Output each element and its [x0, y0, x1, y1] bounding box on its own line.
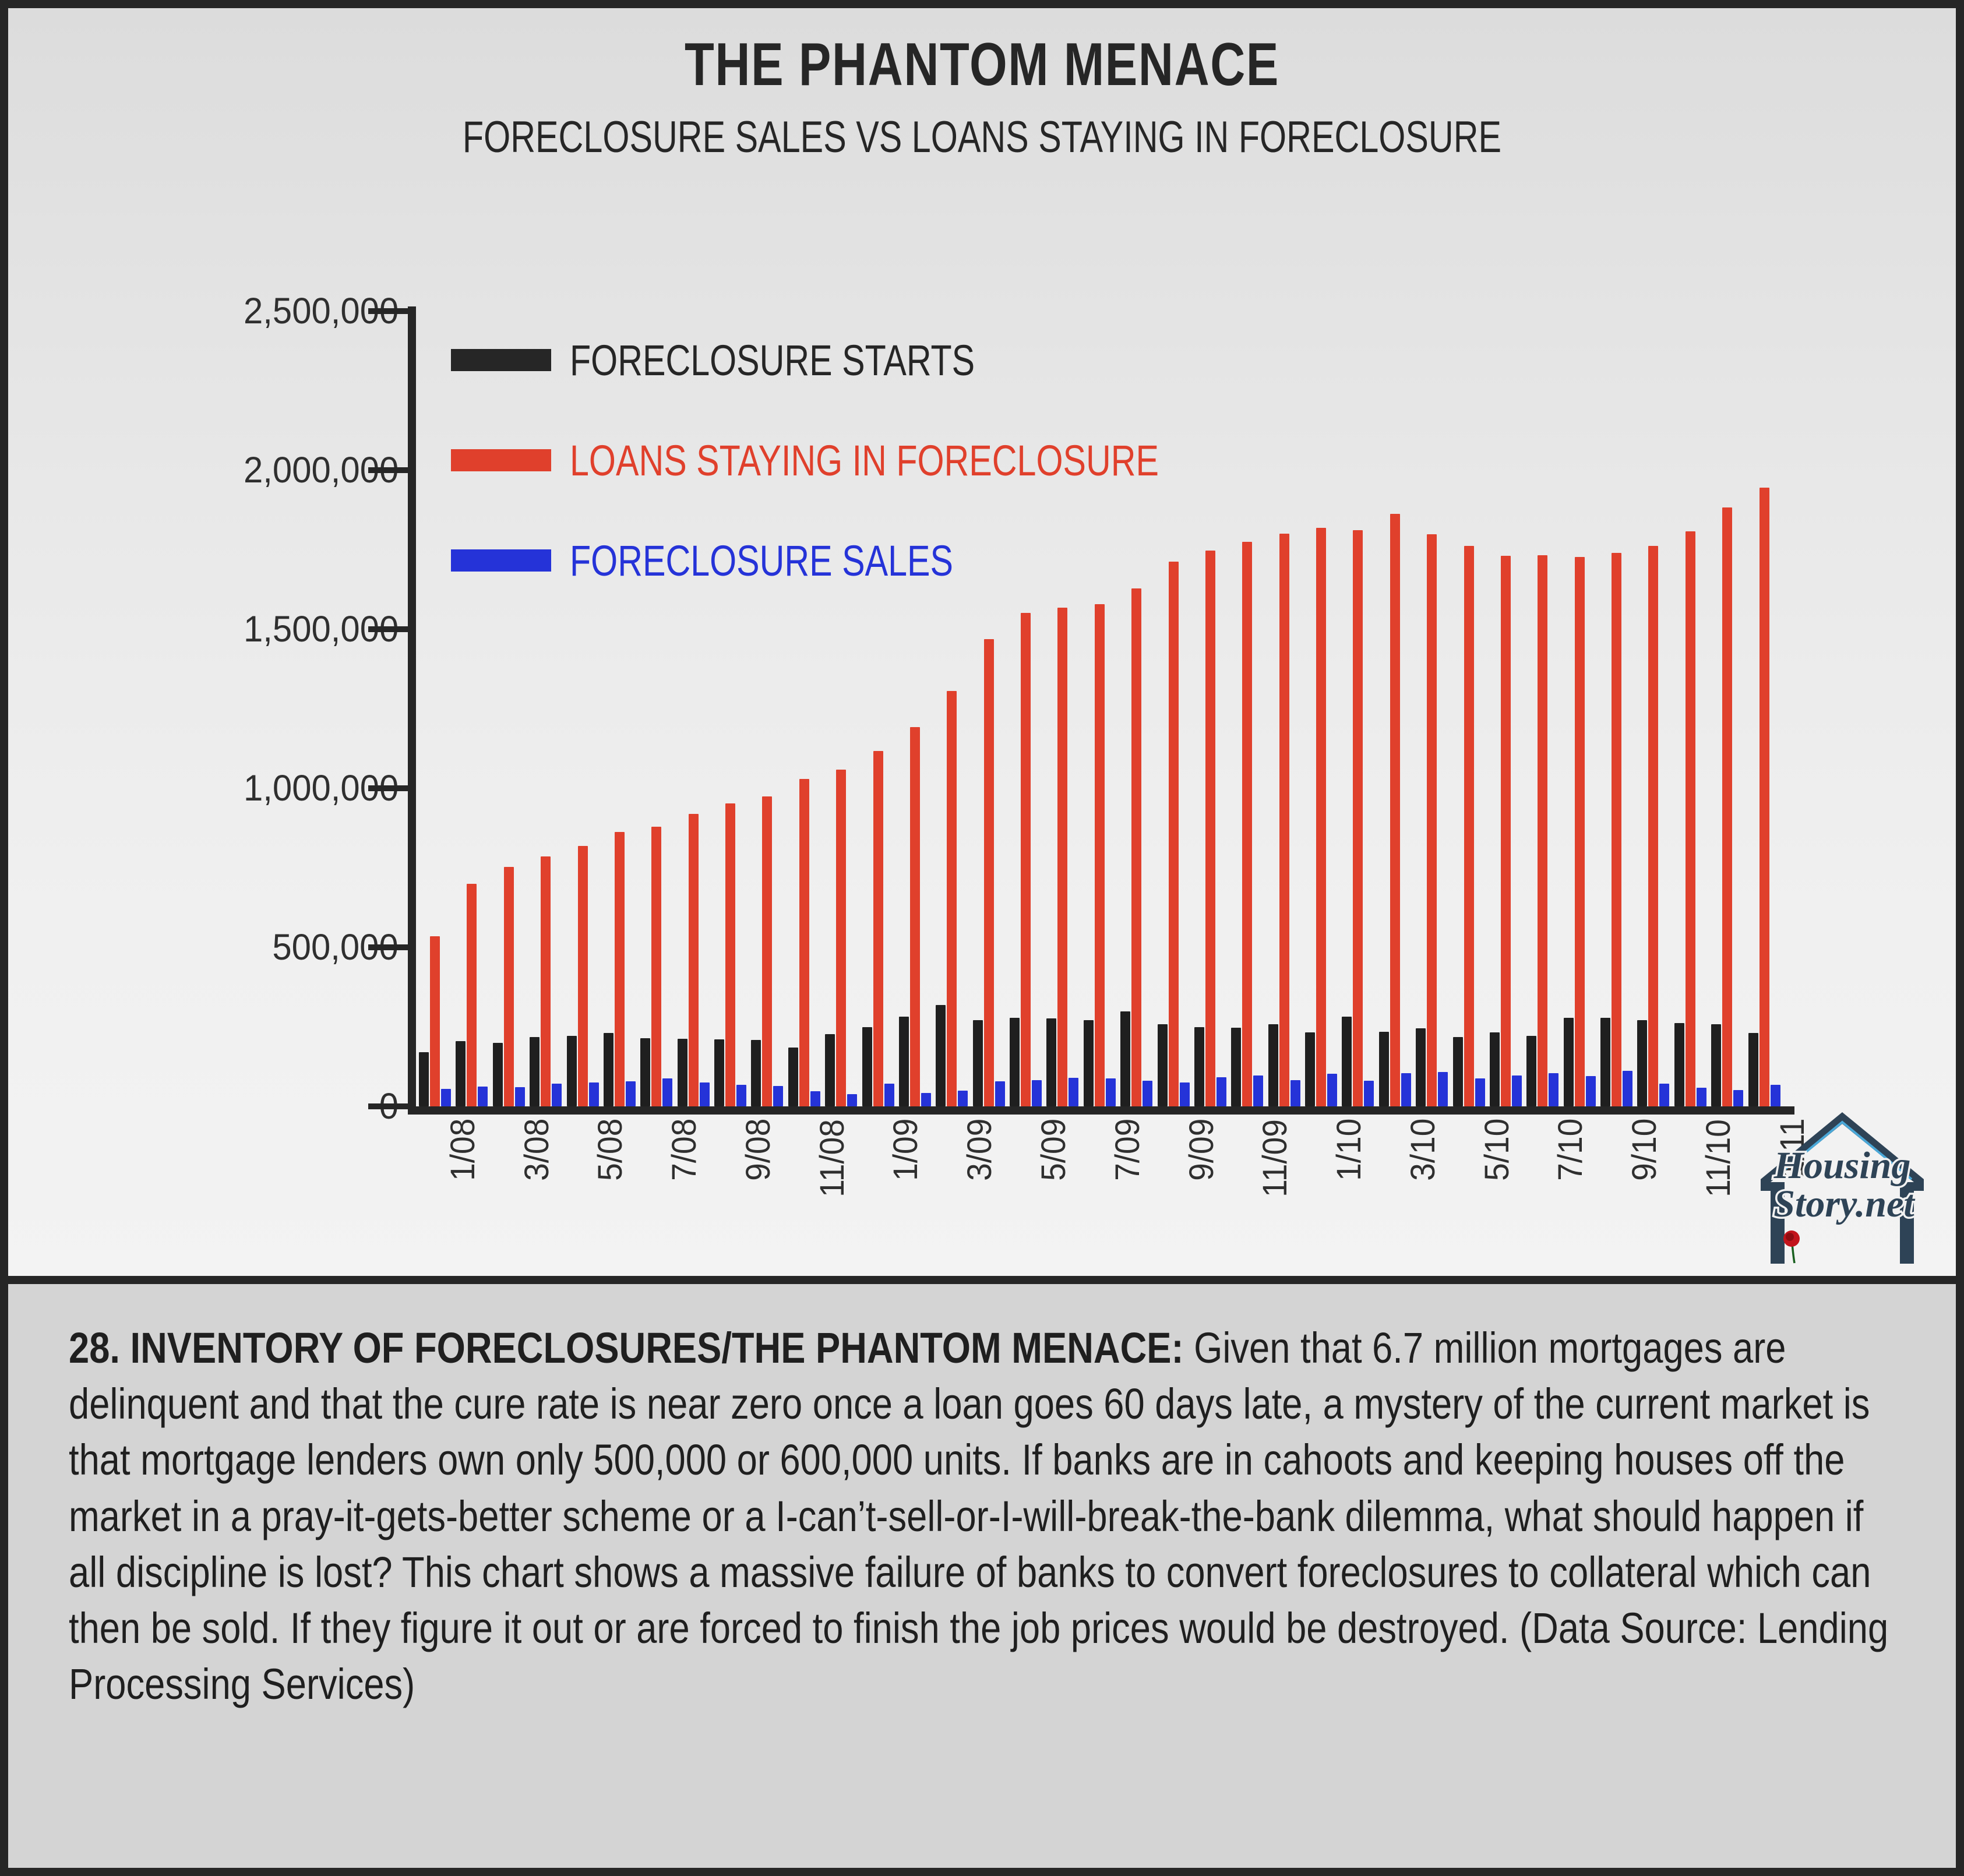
page-title: THE PHANTOM MENACE — [203, 30, 1761, 100]
x-tick-label: 5/08 — [591, 1119, 630, 1181]
housingstory-logo[interactable]: Housing Story.net — [1746, 1103, 1938, 1272]
y-tick-mark — [368, 944, 409, 950]
x-tick-label: 3/08 — [517, 1119, 556, 1181]
legend-label: LOANS STAYING IN FORECLOSURE — [570, 436, 1159, 485]
bar-loans[interactable] — [1169, 562, 1179, 1106]
bar-loans[interactable] — [1131, 588, 1141, 1106]
x-tick-label: 7/10 — [1551, 1119, 1590, 1181]
bar-loans[interactable] — [762, 796, 772, 1106]
bar-loans[interactable] — [1501, 556, 1511, 1106]
bar-loans[interactable] — [1353, 530, 1363, 1106]
y-axis-line — [408, 306, 416, 1111]
logo-line-2: Story.net — [1773, 1183, 1915, 1225]
bar-starts[interactable] — [1600, 1018, 1610, 1106]
bar-loans[interactable] — [1760, 488, 1769, 1106]
bar-starts[interactable] — [825, 1034, 835, 1106]
legend-label: FORECLOSURE STARTS — [570, 336, 975, 385]
bar-sales[interactable] — [884, 1084, 894, 1106]
bar-sales[interactable] — [736, 1085, 746, 1106]
bar-loans[interactable] — [947, 691, 957, 1106]
bar-group[interactable] — [1525, 311, 1559, 1106]
bar-starts[interactable] — [1268, 1024, 1278, 1106]
legend-label: FORECLOSURE SALES — [570, 536, 953, 586]
y-tick-mark — [368, 626, 409, 632]
bar-sales[interactable] — [1401, 1073, 1411, 1106]
bar-starts[interactable] — [604, 1033, 613, 1106]
bar-loans[interactable] — [1390, 514, 1400, 1106]
caption-text: 28. INVENTORY OF FORECLOSURES/THE PHANTO… — [69, 1320, 1896, 1712]
chart-legend: FORECLOSURE STARTS LOANS STAYING IN FORE… — [451, 327, 1208, 628]
bar-starts[interactable] — [936, 1005, 946, 1106]
bar-starts[interactable] — [1010, 1018, 1020, 1106]
bar-group[interactable] — [1341, 311, 1374, 1106]
bar-loans[interactable] — [1021, 613, 1031, 1106]
bar-sales[interactable] — [995, 1081, 1005, 1106]
bar-starts[interactable] — [1416, 1028, 1426, 1106]
bar-starts[interactable] — [640, 1038, 650, 1106]
bar-starts[interactable] — [714, 1039, 724, 1106]
bar-loans[interactable] — [467, 884, 477, 1106]
bar-loans[interactable] — [689, 814, 699, 1106]
x-axis-labels: 1/083/085/087/089/0811/081/093/095/097/0… — [416, 1115, 1782, 1255]
x-tick-label: 7/08 — [665, 1119, 704, 1181]
bar-sales[interactable] — [1697, 1088, 1706, 1106]
x-tick-label: 7/09 — [1108, 1119, 1147, 1181]
bar-sales[interactable] — [810, 1091, 820, 1106]
bar-group[interactable] — [1673, 311, 1707, 1106]
bar-loans[interactable] — [1648, 546, 1658, 1106]
bar-sales[interactable] — [552, 1084, 562, 1106]
x-tick-label: 1/08 — [443, 1119, 482, 1181]
y-tick-mark — [368, 467, 409, 473]
x-tick-label: 9/09 — [1182, 1119, 1221, 1181]
y-tick-mark — [368, 1103, 409, 1109]
chart-panel: THE PHANTOM MENACE FORECLOSURE SALES VS … — [8, 8, 1956, 1276]
bar-starts[interactable] — [456, 1041, 466, 1106]
x-tick-label: 3/09 — [960, 1119, 999, 1181]
infographic-root: THE PHANTOM MENACE FORECLOSURE SALES VS … — [0, 0, 1964, 1876]
bar-sales[interactable] — [700, 1082, 710, 1106]
bar-group[interactable] — [1747, 311, 1781, 1106]
bar-starts[interactable] — [862, 1027, 872, 1107]
bar-loans[interactable] — [1538, 555, 1547, 1106]
bar-loans[interactable] — [1427, 534, 1437, 1106]
x-tick-label: 3/10 — [1404, 1119, 1443, 1181]
bar-group[interactable] — [1267, 311, 1301, 1106]
bar-loans[interactable] — [1095, 604, 1105, 1106]
bar-starts[interactable] — [1305, 1032, 1315, 1106]
x-tick-label: 5/09 — [1034, 1119, 1073, 1181]
bar-sales[interactable] — [662, 1078, 672, 1106]
bar-sales[interactable] — [1290, 1080, 1300, 1106]
bar-loans[interactable] — [541, 856, 551, 1106]
bar-starts[interactable] — [973, 1020, 983, 1107]
page-subtitle: FORECLOSURE SALES VS LOANS STAYING IN FO… — [223, 112, 1742, 163]
bar-group[interactable] — [1452, 311, 1486, 1106]
bar-starts[interactable] — [419, 1052, 429, 1106]
bar-group[interactable] — [1230, 311, 1264, 1106]
bar-starts[interactable] — [1084, 1020, 1094, 1107]
bar-sales[interactable] — [847, 1094, 857, 1106]
bar-group[interactable] — [1563, 311, 1596, 1106]
bar-starts[interactable] — [788, 1048, 798, 1106]
bar-group[interactable] — [1489, 311, 1522, 1106]
bar-loans[interactable] — [1205, 551, 1215, 1106]
legend-item-foreclosure-sales[interactable]: FORECLOSURE SALES — [451, 528, 1208, 593]
bar-sales[interactable] — [958, 1091, 968, 1106]
y-tick-mark — [368, 308, 409, 314]
bar-sales[interactable] — [1549, 1073, 1558, 1106]
bar-sales[interactable] — [1623, 1071, 1632, 1106]
bar-starts[interactable] — [899, 1017, 909, 1106]
bar-sales[interactable] — [1659, 1084, 1669, 1106]
legend-item-foreclosure-starts[interactable]: FORECLOSURE STARTS — [451, 327, 1208, 393]
bar-loans[interactable] — [1057, 608, 1067, 1106]
bar-loans[interactable] — [984, 639, 994, 1106]
x-tick-label: 1/09 — [886, 1119, 925, 1181]
legend-swatch-blue — [451, 549, 551, 572]
bar-starts[interactable] — [1120, 1011, 1130, 1106]
bar-starts[interactable] — [530, 1037, 540, 1106]
bar-sales[interactable] — [1512, 1075, 1522, 1107]
bar-starts[interactable] — [1194, 1027, 1204, 1107]
x-axis-line — [408, 1106, 1794, 1115]
x-tick-label: 9/08 — [739, 1119, 778, 1181]
bar-loans[interactable] — [1686, 531, 1695, 1106]
bar-sales[interactable] — [1032, 1080, 1042, 1106]
bar-group[interactable] — [1378, 311, 1412, 1106]
bar-starts[interactable] — [1748, 1033, 1758, 1106]
bar-starts[interactable] — [751, 1040, 761, 1106]
bar-loans[interactable] — [1575, 557, 1585, 1106]
bar-sales[interactable] — [515, 1087, 525, 1106]
bar-group[interactable] — [1710, 311, 1744, 1106]
bar-starts[interactable] — [1711, 1024, 1721, 1106]
bar-loans[interactable] — [725, 803, 735, 1106]
bar-starts[interactable] — [1490, 1032, 1500, 1106]
bar-loans[interactable] — [504, 867, 514, 1106]
legend-swatch-black — [451, 349, 551, 371]
caption-lead: 28. INVENTORY OF FORECLOSURES/THE PHANTO… — [69, 1324, 1184, 1372]
bar-sales[interactable] — [1364, 1081, 1374, 1106]
bar-starts[interactable] — [1342, 1017, 1352, 1106]
x-tick-label: 11/09 — [1256, 1119, 1295, 1197]
x-tick-label: 11/08 — [813, 1119, 852, 1197]
bar-sales[interactable] — [1586, 1076, 1596, 1106]
y-axis-labels: 0500,0001,000,0001,500,0002,000,0002,500… — [189, 311, 399, 1106]
bar-starts[interactable] — [678, 1039, 687, 1106]
caption-body: Given that 6.7 million mortgages are del… — [69, 1324, 1888, 1708]
bar-sales[interactable] — [589, 1082, 599, 1106]
bar-starts[interactable] — [493, 1043, 503, 1106]
bar-loans[interactable] — [1464, 546, 1474, 1106]
bar-loans[interactable] — [578, 846, 588, 1106]
bar-loans[interactable] — [836, 770, 846, 1106]
x-tick-label: 9/10 — [1625, 1119, 1664, 1181]
bar-sales[interactable] — [1475, 1078, 1485, 1106]
bar-starts[interactable] — [1637, 1020, 1647, 1107]
bar-starts[interactable] — [567, 1036, 577, 1106]
bar-starts[interactable] — [1231, 1028, 1241, 1106]
bar-starts[interactable] — [1564, 1018, 1574, 1106]
bar-sales[interactable] — [1253, 1075, 1263, 1107]
bar-loans[interactable] — [1279, 534, 1289, 1106]
bar-loans[interactable] — [430, 936, 440, 1106]
bar-loans[interactable] — [873, 751, 883, 1106]
bar-loans[interactable] — [1722, 507, 1732, 1106]
x-tick-label: 1/10 — [1330, 1119, 1369, 1181]
bar-loans[interactable] — [615, 832, 625, 1106]
rose-icon — [1783, 1230, 1800, 1263]
bar-starts[interactable] — [1526, 1036, 1536, 1106]
bar-group[interactable] — [1304, 311, 1338, 1106]
bar-sales[interactable] — [1106, 1078, 1116, 1106]
bar-sales[interactable] — [773, 1086, 783, 1106]
bar-sales[interactable] — [1438, 1072, 1448, 1106]
bar-loans[interactable] — [1242, 542, 1252, 1106]
bar-sales[interactable] — [478, 1087, 488, 1106]
bar-sales[interactable] — [1143, 1081, 1152, 1106]
bar-group[interactable] — [1599, 311, 1633, 1106]
bar-loans[interactable] — [1316, 528, 1326, 1106]
bar-group[interactable] — [1636, 311, 1670, 1106]
bar-starts[interactable] — [1046, 1018, 1056, 1106]
bar-sales[interactable] — [1327, 1074, 1337, 1106]
bar-starts[interactable] — [1158, 1024, 1168, 1106]
bar-starts[interactable] — [1674, 1023, 1684, 1106]
logo-line-1: Housing — [1773, 1144, 1911, 1187]
x-tick-label: 11/10 — [1699, 1119, 1738, 1197]
bar-sales[interactable] — [921, 1093, 931, 1106]
y-tick-mark — [368, 785, 409, 791]
bar-sales[interactable] — [1733, 1090, 1743, 1106]
bar-starts[interactable] — [1453, 1037, 1463, 1106]
bar-loans[interactable] — [799, 779, 809, 1106]
legend-item-loans-staying[interactable]: LOANS STAYING IN FORECLOSURE — [451, 428, 1208, 493]
bar-sales[interactable] — [1180, 1082, 1190, 1106]
bar-sales[interactable] — [1069, 1078, 1078, 1106]
x-tick-label: 5/10 — [1478, 1119, 1517, 1181]
legend-swatch-red — [451, 449, 551, 471]
bar-loans[interactable] — [651, 827, 661, 1106]
bar-sales[interactable] — [1217, 1077, 1226, 1106]
caption-panel: 28. INVENTORY OF FORECLOSURES/THE PHANTO… — [8, 1284, 1956, 1868]
bar-loans[interactable] — [1612, 553, 1621, 1106]
bar-sales[interactable] — [441, 1089, 451, 1106]
panel-divider — [8, 1276, 1956, 1284]
bar-starts[interactable] — [1379, 1032, 1389, 1106]
bar-sales[interactable] — [626, 1081, 636, 1106]
bar-group[interactable] — [1415, 311, 1448, 1106]
bar-group[interactable] — [418, 311, 452, 1106]
bar-loans[interactable] — [910, 727, 920, 1106]
